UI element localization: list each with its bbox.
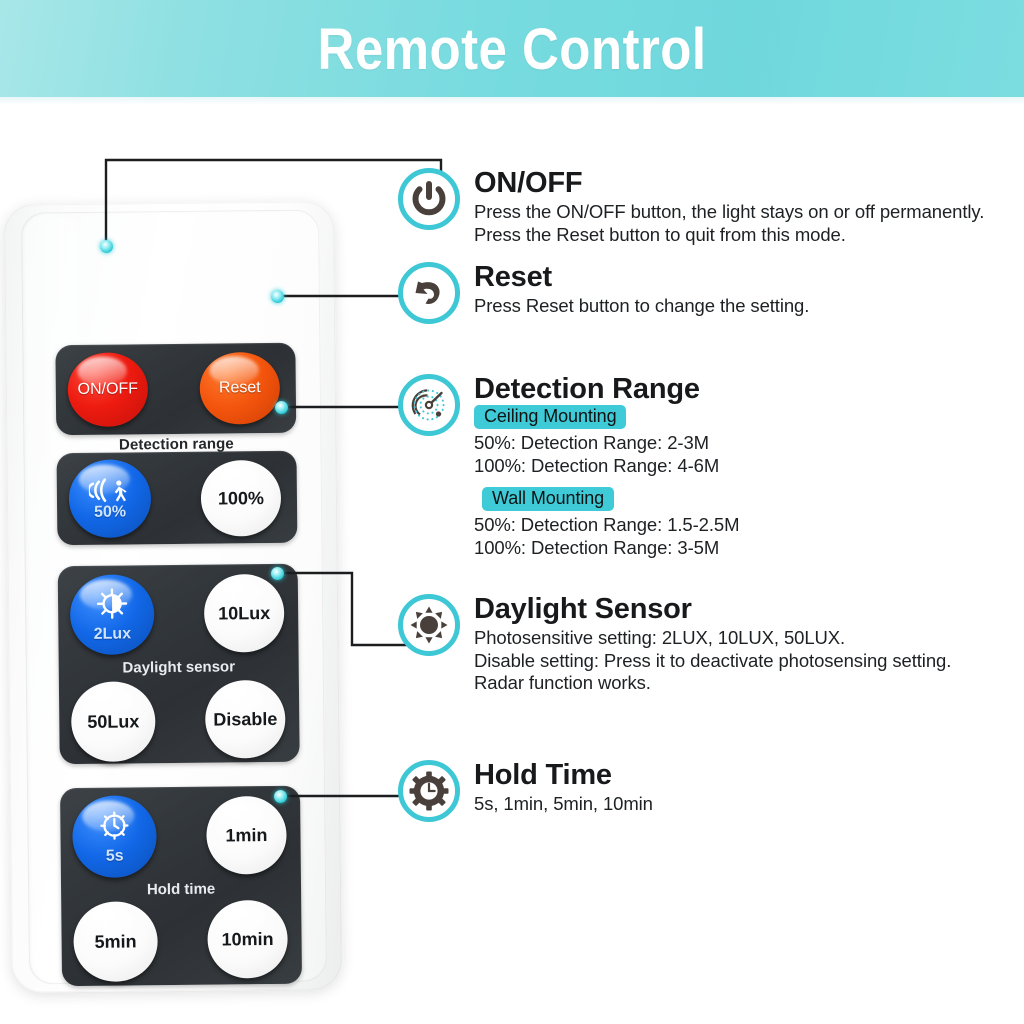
legend-text-reset: Reset Press Reset button to change the s… xyxy=(474,262,809,318)
radar-motion-icon xyxy=(89,476,131,502)
legend-text-daylight-sensor: Daylight Sensor Photosensitive setting: … xyxy=(474,594,951,695)
remote-key-range-50[interactable]: 50% xyxy=(69,459,152,538)
remote-key-1min[interactable]: 1min xyxy=(206,796,287,875)
remote-key-2lux[interactable]: 2Lux xyxy=(70,574,155,655)
remote-key-onoff-label: ON/OFF xyxy=(78,381,139,398)
remote-key-disable[interactable]: Disable xyxy=(205,680,286,759)
sun-rays-icon-badge xyxy=(398,594,460,656)
power-icon xyxy=(410,180,448,218)
spacer xyxy=(474,477,739,487)
brightness-sun-icon xyxy=(92,586,132,624)
remote-key-50lux-label: 50Lux xyxy=(87,712,139,731)
legend-text-onoff: ON/OFF Press the ON/OFF button, the ligh… xyxy=(474,168,984,246)
legend-desc-daylight-line3: Radar function works. xyxy=(474,672,951,695)
page-root: Remote Control ON/OFF Reset Detection ra… xyxy=(0,0,1024,1024)
legend-desc-reset-line1: Press Reset button to change the setting… xyxy=(474,295,809,318)
tag-ceiling-mounting: Ceiling Mounting xyxy=(474,405,626,429)
remote-key-1min-label: 1min xyxy=(225,826,267,844)
legend-desc-onoff-line1: Press the ON/OFF button, the light stays… xyxy=(474,201,984,224)
legend-wall-line1: 50%: Detection Range: 1.5-2.5M xyxy=(474,514,739,537)
tag-wall-mounting: Wall Mounting xyxy=(482,487,614,511)
legend-text-hold-time: Hold Time 5s, 1min, 5min, 10min xyxy=(474,760,653,816)
remote-key-disable-label: Disable xyxy=(213,710,277,729)
legend-desc-onoff-line2: Press the Reset button to quit from this… xyxy=(474,224,984,247)
remote-body-outer: ON/OFF Reset Detection range xyxy=(4,201,342,992)
remote-key-2lux-label: 2Lux xyxy=(94,626,132,642)
remote-key-reset-label: Reset xyxy=(219,380,261,396)
legend-desc-daylight-line1: Photosensitive setting: 2LUX, 10LUX, 50L… xyxy=(474,627,951,650)
legend-entry-reset: Reset Press Reset button to change the s… xyxy=(398,262,809,324)
remote-key-10lux-label: 10Lux xyxy=(218,604,270,623)
callout-dot-hold-time xyxy=(274,790,287,803)
radar-icon xyxy=(409,385,449,425)
legend-title-detection-range: Detection Range xyxy=(474,375,739,405)
legend-title-daylight-sensor: Daylight Sensor xyxy=(474,595,951,625)
legend-title-onoff: ON/OFF xyxy=(474,169,984,199)
legend-entry-hold-time: Hold Time 5s, 1min, 5min, 10min xyxy=(398,760,653,822)
callout-dot-daylight-sensor xyxy=(271,567,284,580)
callout-dot-detection-range xyxy=(275,401,288,414)
sun-rays-icon xyxy=(409,605,449,645)
undo-arrow-icon xyxy=(410,274,448,312)
legend-entry-detection-range: Detection Range Ceiling Mounting 50%: De… xyxy=(398,374,739,560)
legend-desc-daylight-line2: Disable setting: Press it to deactivate … xyxy=(474,650,951,673)
caption-daylight-sensor: Daylight sensor xyxy=(59,658,299,678)
caption-hold-time: Hold time xyxy=(61,880,301,900)
remote-key-range-100-label: 100% xyxy=(218,489,264,507)
remote-control-device: ON/OFF Reset Detection range xyxy=(0,105,420,1024)
callout-dot-onoff xyxy=(100,240,113,253)
legend-title-hold-time: Hold Time xyxy=(474,761,653,791)
legend-entry-daylight-sensor: Daylight Sensor Photosensitive setting: … xyxy=(398,594,951,695)
remote-key-5min-label: 5min xyxy=(94,932,136,950)
remote-key-10min-label: 10min xyxy=(221,930,273,949)
undo-arrow-icon-badge xyxy=(398,262,460,324)
legend-ceiling-line1: 50%: Detection Range: 2-3M xyxy=(474,432,739,455)
remote-key-range-50-label: 50% xyxy=(94,504,126,520)
legend-ceiling-line2: 100%: Detection Range: 4-6M xyxy=(474,455,739,478)
legend-panel: ON/OFF Press the ON/OFF button, the ligh… xyxy=(398,0,1024,1024)
gear-clock-icon xyxy=(409,771,449,811)
legend-entry-onoff: ON/OFF Press the ON/OFF button, the ligh… xyxy=(398,168,984,246)
legend-title-reset: Reset xyxy=(474,263,809,293)
legend-text-detection-range: Detection Range Ceiling Mounting 50%: De… xyxy=(474,374,739,560)
remote-key-5s[interactable]: 5s xyxy=(72,795,157,878)
legend-desc-hold-time-line1: 5s, 1min, 5min, 10min xyxy=(474,793,653,816)
remote-key-10min[interactable]: 10min xyxy=(207,900,288,979)
remote-key-10lux[interactable]: 10Lux xyxy=(204,574,285,653)
remote-key-5s-label: 5s xyxy=(106,849,124,865)
legend-wall-line2: 100%: Detection Range: 3-5M xyxy=(474,537,739,560)
callout-dot-reset xyxy=(271,290,284,303)
radar-icon-badge xyxy=(398,374,460,436)
clock-icon xyxy=(93,808,135,846)
power-icon-badge xyxy=(398,168,460,230)
gear-clock-icon-badge xyxy=(398,760,460,822)
